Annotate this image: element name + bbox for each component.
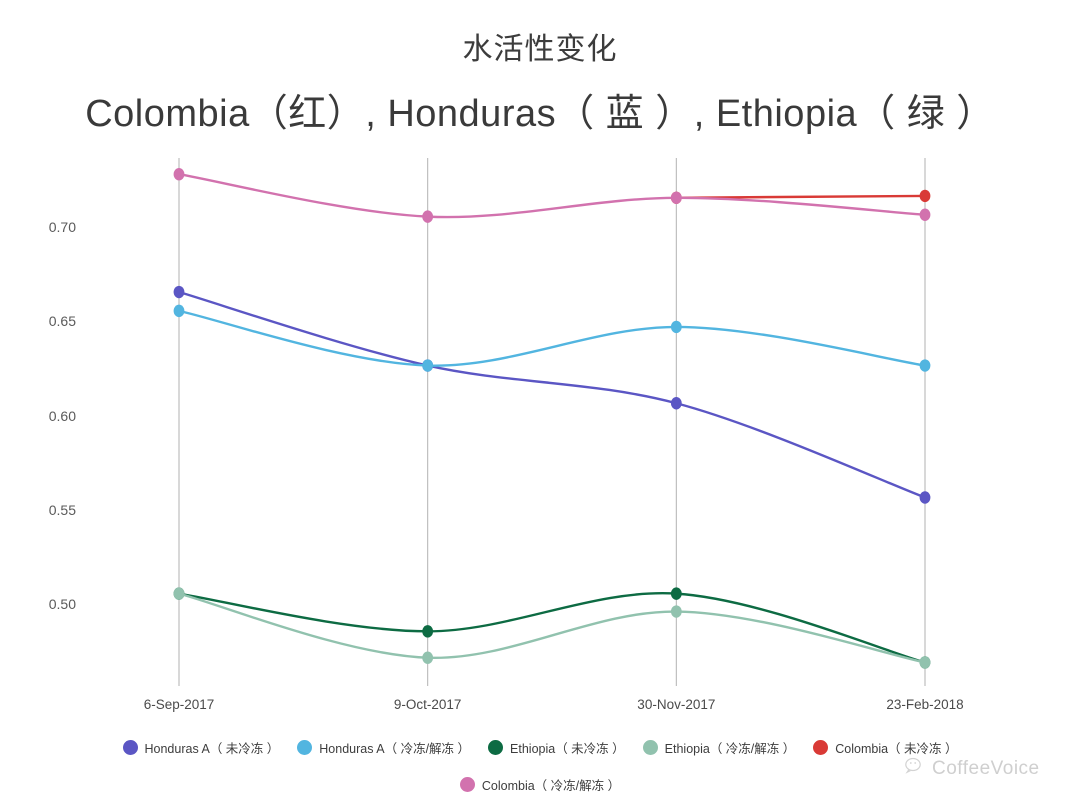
legend-swatch-icon	[813, 740, 828, 755]
y-axis-tick-label: 0.50	[18, 596, 76, 612]
legend-row-2: Colombia（ 冷冻/解冻 ）	[0, 775, 1080, 794]
legend-item-label: Colombia（ 未冷冻 ）	[835, 738, 957, 757]
data-point-marker[interactable]	[920, 209, 931, 221]
data-point-marker[interactable]	[422, 625, 433, 637]
data-point-marker[interactable]	[422, 652, 433, 664]
data-point-marker[interactable]	[174, 305, 185, 317]
y-axis-tick-label: 0.70	[18, 219, 76, 235]
x-axis-tick-label: 30-Nov-2017	[637, 697, 715, 712]
legend-item[interactable]: Colombia（ 未冷冻 ）	[813, 738, 957, 757]
y-axis-tick-label: 0.65	[18, 313, 76, 329]
series-line	[179, 593, 925, 662]
series-1	[174, 305, 931, 372]
legend-item[interactable]: Ethiopia（ 冷冻/解冻 ）	[643, 738, 796, 757]
chart-page: 水活性变化 Colombia（红）, Honduras（ 蓝 ）, Ethiop…	[0, 0, 1080, 810]
legend-swatch-icon	[488, 740, 503, 755]
series-line	[179, 311, 925, 366]
data-point-marker[interactable]	[422, 210, 433, 222]
data-point-marker[interactable]	[920, 359, 931, 371]
legend-item-label: Honduras A（ 冷冻/解冻 ）	[319, 738, 470, 757]
line-chart-plot	[0, 0, 1080, 810]
legend-item-label: Ethiopia（ 冷冻/解冻 ）	[665, 738, 796, 757]
series-4	[671, 190, 930, 204]
data-point-marker[interactable]	[920, 656, 931, 668]
x-axis-tick-label: 6-Sep-2017	[144, 697, 215, 712]
y-axis-tick-label: 0.55	[18, 502, 76, 518]
legend-item[interactable]: Colombia（ 冷冻/解冻 ）	[460, 775, 620, 794]
legend-item-label: Ethiopia（ 未冷冻 ）	[510, 738, 625, 757]
legend-item[interactable]: Honduras A（ 未冷冻 ）	[123, 738, 280, 757]
data-point-marker[interactable]	[422, 359, 433, 371]
data-point-marker[interactable]	[671, 605, 682, 617]
legend-swatch-icon	[460, 777, 475, 792]
legend-item-label: Colombia（ 冷冻/解冻 ）	[482, 775, 620, 794]
data-point-marker[interactable]	[671, 397, 682, 409]
legend-swatch-icon	[297, 740, 312, 755]
data-point-marker[interactable]	[174, 168, 185, 180]
series-line	[179, 292, 925, 497]
series-5	[174, 168, 931, 223]
data-point-marker[interactable]	[671, 321, 682, 333]
series-0	[174, 286, 931, 504]
data-point-marker[interactable]	[174, 286, 185, 298]
data-point-marker[interactable]	[174, 587, 185, 599]
legend-swatch-icon	[643, 740, 658, 755]
legend-row-1: Honduras A（ 未冷冻 ）Honduras A（ 冷冻/解冻 ）Ethi…	[0, 738, 1080, 757]
series-line	[179, 594, 925, 663]
data-point-marker[interactable]	[671, 192, 682, 204]
y-axis: 0.700.650.600.550.50	[0, 0, 76, 810]
x-axis-tick-label: 9-Oct-2017	[394, 697, 462, 712]
legend-swatch-icon	[123, 740, 138, 755]
y-axis-tick-label: 0.60	[18, 408, 76, 424]
x-axis-tick-label: 23-Feb-2018	[886, 697, 963, 712]
legend-item-label: Honduras A（ 未冷冻 ）	[145, 738, 280, 757]
legend-item[interactable]: Honduras A（ 冷冻/解冻 ）	[297, 738, 470, 757]
series-3	[174, 587, 931, 668]
data-point-marker[interactable]	[920, 491, 931, 503]
data-point-marker[interactable]	[671, 587, 682, 599]
data-point-marker[interactable]	[920, 190, 931, 202]
legend-item[interactable]: Ethiopia（ 未冷冻 ）	[488, 738, 625, 757]
